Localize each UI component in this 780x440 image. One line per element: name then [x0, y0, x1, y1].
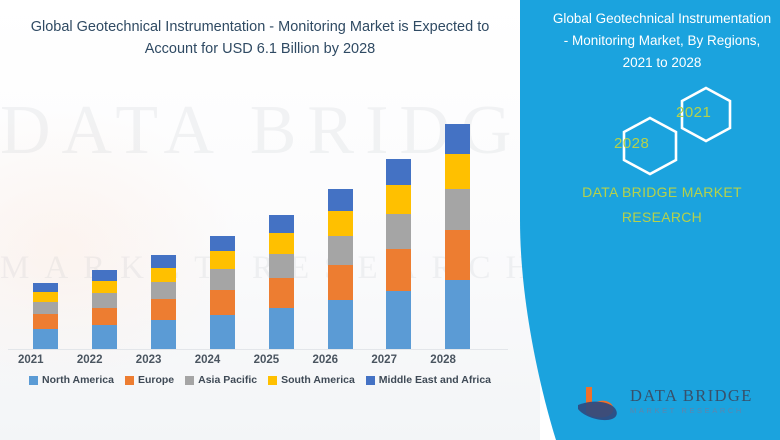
bar-segment	[328, 189, 353, 210]
bar-segment	[445, 154, 470, 189]
bar-segment	[151, 299, 176, 320]
bar-segment	[269, 233, 294, 254]
bar-segment	[386, 214, 411, 248]
x-tick-2025: 2025	[254, 354, 310, 366]
bar-segment	[328, 236, 353, 265]
bar-2022	[92, 270, 117, 350]
bar-segment	[92, 325, 117, 350]
panel-brand-text: DATA BRIDGE MARKET RESEARCH	[550, 180, 774, 229]
bar-segment	[269, 254, 294, 278]
x-tick-2024: 2024	[195, 354, 251, 366]
bar-segment	[328, 211, 353, 236]
legend-swatch-icon	[125, 376, 134, 385]
x-tick-2023: 2023	[136, 354, 192, 366]
bar-2025	[269, 215, 294, 350]
bar-segment	[33, 314, 58, 329]
bar-segment	[386, 249, 411, 291]
x-tick-2027: 2027	[371, 354, 427, 366]
bar-segment	[33, 292, 58, 302]
bar-segment	[151, 320, 176, 350]
legend-swatch-icon	[268, 376, 277, 385]
bar-segment	[386, 159, 411, 184]
panel-brand-line1: DATA BRIDGE MARKET	[550, 180, 774, 205]
bar-segment	[269, 215, 294, 233]
bar-segment	[210, 236, 235, 251]
chart-panel: DATA BRIDGE MARKET RESEARCH Global Geote…	[0, 0, 540, 440]
bar-segment	[269, 278, 294, 308]
bar-segment	[33, 302, 58, 314]
bar-segment	[328, 300, 353, 350]
legend-swatch-icon	[29, 376, 38, 385]
bar-segment	[33, 283, 58, 292]
logo-title: DATA BRIDGE	[630, 387, 753, 404]
bar-segment	[92, 281, 117, 293]
panel-title: Global Geotechnical Instrumentation - Mo…	[550, 8, 774, 74]
x-tick-2022: 2022	[77, 354, 133, 366]
bar-2024	[210, 236, 235, 350]
bar-segment	[210, 251, 235, 269]
legend-swatch-icon	[185, 376, 194, 385]
bar-segment	[92, 293, 117, 307]
legend-item[interactable]: North America	[29, 374, 114, 386]
hexagon-icons	[588, 80, 748, 180]
bar-segment	[445, 280, 470, 350]
bar-segment	[92, 308, 117, 326]
bar-segment	[151, 255, 176, 268]
logo-subtitle: MARKET RESEARCH	[630, 406, 753, 415]
axis-baseline	[8, 349, 508, 350]
bar-segment	[386, 291, 411, 350]
panel-brand-line2: RESEARCH	[550, 205, 774, 230]
page-title: Global Geotechnical Instrumentation - Mo…	[18, 16, 502, 60]
bar-segment	[151, 268, 176, 283]
bar-segment	[445, 124, 470, 154]
infographic-root: DATA BRIDGE MARKET RESEARCH Global Geote…	[0, 0, 780, 440]
legend-label: Europe	[138, 374, 174, 386]
x-axis-ticks: 20212022202320242025202620272028	[0, 354, 520, 374]
logo-wordmark: DATA BRIDGE MARKET RESEARCH	[630, 387, 753, 415]
legend-label: Asia Pacific	[198, 374, 257, 386]
bar-2026	[328, 189, 353, 350]
brand-panel-content: Global Geotechnical Instrumentation - Mo…	[540, 0, 780, 440]
legend-item[interactable]: Middle East and Africa	[366, 374, 491, 386]
bar-segment	[210, 290, 235, 315]
bar-segment	[445, 189, 470, 230]
bar-segment	[92, 270, 117, 281]
bar-segment	[269, 308, 294, 350]
bar-segment	[210, 269, 235, 290]
plot-area	[0, 100, 520, 350]
legend-swatch-icon	[366, 376, 375, 385]
logo-mark-icon	[576, 385, 626, 425]
legend-item[interactable]: South America	[268, 374, 355, 386]
hexagon-2028-label: 2028	[614, 135, 649, 152]
bar-2028	[445, 124, 470, 350]
x-tick-2028: 2028	[430, 354, 486, 366]
x-tick-2021: 2021	[18, 354, 74, 366]
x-tick-2026: 2026	[313, 354, 369, 366]
bar-2021	[33, 283, 58, 350]
bar-segment	[445, 230, 470, 280]
legend-label: North America	[42, 374, 114, 386]
bar-segment	[33, 329, 58, 350]
legend-item[interactable]: Europe	[125, 374, 174, 386]
bar-segment	[328, 265, 353, 301]
hexagon-2021-label: 2021	[676, 104, 711, 121]
bar-segment	[151, 282, 176, 299]
bar-2027	[386, 159, 411, 350]
chart-legend: North AmericaEuropeAsia PacificSouth Ame…	[0, 374, 520, 386]
bar-2023	[151, 255, 176, 350]
legend-label: South America	[281, 374, 355, 386]
legend-label: Middle East and Africa	[379, 374, 491, 386]
bar-segment	[210, 315, 235, 350]
company-logo: DATA BRIDGE MARKET RESEARCH	[576, 385, 766, 427]
bar-segment	[386, 185, 411, 215]
hexagon-group: 2021 2028	[588, 80, 748, 180]
legend-item[interactable]: Asia Pacific	[185, 374, 257, 386]
